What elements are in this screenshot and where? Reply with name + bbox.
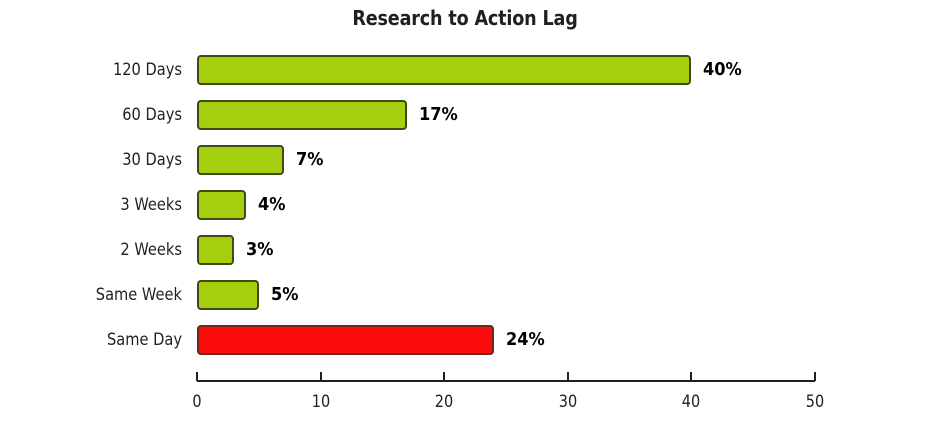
bar[interactable] [197, 55, 691, 85]
bar[interactable] [197, 100, 407, 130]
bar-row: Same Day24% [0, 325, 930, 355]
x-axis-line [197, 380, 815, 382]
x-axis-tick [690, 372, 692, 381]
plot-area: 120 Days40%60 Days17%30 Days7%3 Weeks4%2… [0, 0, 930, 422]
x-axis-tick [567, 372, 569, 381]
bar[interactable] [197, 235, 234, 265]
x-axis-tick [320, 372, 322, 381]
bar-row: 30 Days7% [0, 145, 930, 175]
category-label: 60 Days [25, 100, 182, 130]
bar-row: 60 Days17% [0, 100, 930, 130]
category-label: 2 Weeks [25, 235, 182, 265]
bar-value-label: 3% [246, 235, 274, 265]
bar-value-label: 4% [258, 190, 286, 220]
category-label: 120 Days [25, 55, 182, 85]
x-axis-tick-label: 20 [435, 392, 453, 412]
bar[interactable] [197, 145, 284, 175]
bar-row: 2 Weeks3% [0, 235, 930, 265]
x-axis-tick-label: 30 [559, 392, 577, 412]
x-axis-tick-label: 40 [682, 392, 700, 412]
bar[interactable] [197, 190, 246, 220]
bar-value-label: 17% [419, 100, 458, 130]
x-axis-tick-label: 50 [806, 392, 824, 412]
bar-value-label: 7% [296, 145, 324, 175]
bar[interactable] [197, 325, 494, 355]
bar-row: 120 Days40% [0, 55, 930, 85]
category-label: 30 Days [25, 145, 182, 175]
bar-chart: Research to Action Lag 120 Days40%60 Day… [0, 0, 930, 422]
x-axis-tick [443, 372, 445, 381]
x-axis-tick-label: 10 [311, 392, 329, 412]
bar-row: Same Week5% [0, 280, 930, 310]
bar-value-label: 40% [703, 55, 742, 85]
category-label: Same Week [25, 280, 182, 310]
bar-row: 3 Weeks4% [0, 190, 930, 220]
bar[interactable] [197, 280, 259, 310]
category-label: Same Day [25, 325, 182, 355]
bar-value-label: 5% [271, 280, 299, 310]
bar-value-label: 24% [506, 325, 545, 355]
x-axis-tick-label: 0 [192, 392, 201, 412]
x-axis-tick [814, 372, 816, 381]
x-axis-tick [196, 372, 198, 381]
category-label: 3 Weeks [25, 190, 182, 220]
